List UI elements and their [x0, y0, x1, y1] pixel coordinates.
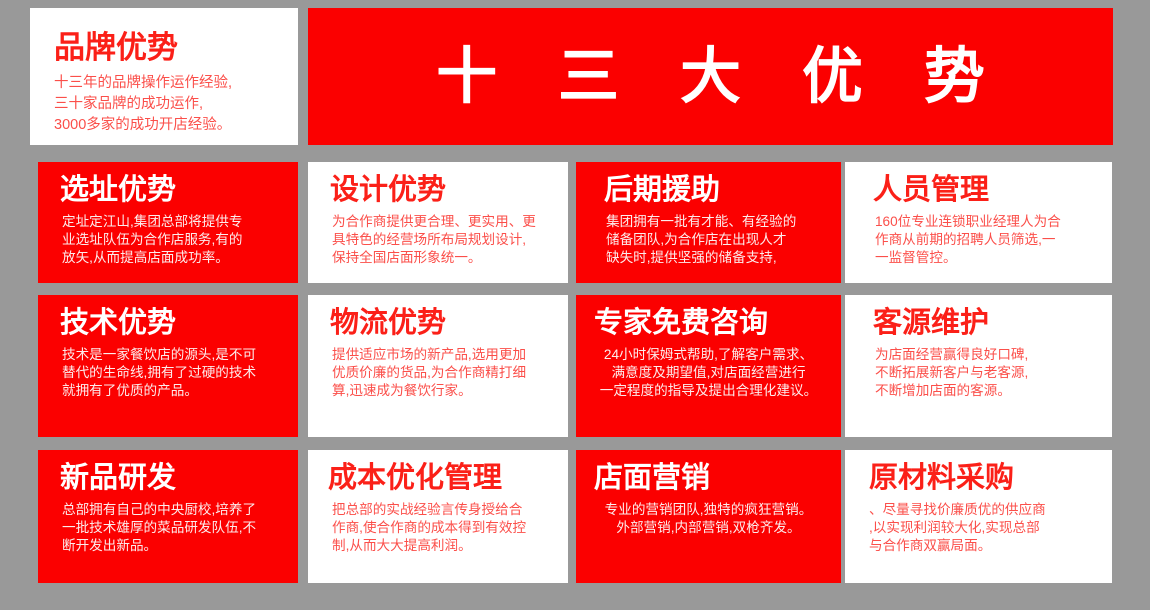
card-title: 专家免费咨询 [594, 309, 831, 338]
card-title: 客源维护 [873, 309, 1102, 338]
card-body-line: 不断增加店面的客源。 [875, 382, 1102, 400]
card-body-line: 作商从前期的招聘人员筛选,一 [875, 231, 1102, 249]
card-body-line: 总部拥有自己的中央厨校,培养了 [62, 501, 288, 519]
card-title: 原材料采购 [869, 464, 1102, 493]
card-body-line: 集团拥有一批有才能、有经验的 [606, 213, 831, 231]
card-body: 160位专业连锁职业经理人为合 作商从前期的招聘人员筛选,一 一监督管控。 [875, 213, 1102, 267]
card-body-line: 具特色的经营场所布局规划设计, [332, 231, 558, 249]
card-store-marketing: 店面营销 专业的营销团队,独特的疯狂营销。 外部营销,内部营销,双枪齐发。 [576, 450, 841, 583]
card-body-line: 定址定江山,集团总部将提供专 [62, 213, 288, 231]
card-body-line: 就拥有了优质的产品。 [62, 382, 288, 400]
card-title: 选址优势 [60, 176, 288, 205]
card-title: 设计优势 [330, 176, 558, 205]
infographic-root: 品牌优势 十三年的品牌操作运作经验, 三十家品牌的成功运作, 3000多家的成功… [0, 0, 1150, 610]
card-body-line: 一监督管控。 [875, 249, 1102, 267]
card-body-line: 优质价廉的货品,为合作商精打细 [332, 364, 558, 382]
card-body-line: 24小时保姆式帮助,了解客户需求、 [586, 346, 831, 364]
card-body-line: 替代的生命线,拥有了过硬的技术 [62, 364, 288, 382]
card-body: 集团拥有一批有才能、有经验的 储备团队,为合作店在出现人才 缺失时,提供坚强的储… [606, 213, 831, 267]
card-body-line: 3000多家的成功开店经验。 [54, 115, 298, 136]
card-body-line: 专业的营销团队,独特的疯狂营销。 [586, 501, 831, 519]
card-body-line: 放矢,从而提高店面成功率。 [62, 249, 288, 267]
banner-title: 十 三 大 优 势 [414, 46, 1007, 107]
card-body-line: 制,从而大大提高利润。 [332, 537, 558, 555]
card-body-line: 技术是一家餐饮店的源头,是不可 [62, 346, 288, 364]
card-body-line: 为店面经营赢得良好口碑, [875, 346, 1102, 364]
card-title: 品牌优势 [54, 32, 298, 63]
card-body-line: 、尽量寻找价廉质优的供应商 [869, 501, 1102, 519]
card-body: 24小时保姆式帮助,了解客户需求、 满意度及期望值,对店面经营进行 一定程度的指… [586, 346, 831, 400]
card-after-sales-support: 后期援助 集团拥有一批有才能、有经验的 储备团队,为合作店在出现人才 缺失时,提… [576, 162, 841, 283]
card-body-line: 为合作商提供更合理、更实用、更 [332, 213, 558, 231]
card-site-advantage: 选址优势 定址定江山,集团总部将提供专 业选址队伍为合作店服务,有的 放矢,从而… [38, 162, 298, 283]
card-body-line: 保持全国店面形象统一。 [332, 249, 558, 267]
card-body-line: 不断拓展新客户与老客源, [875, 364, 1102, 382]
card-body-line: 断开发出新品。 [62, 537, 288, 555]
card-body-line: 储备团队,为合作店在出现人才 [606, 231, 831, 249]
card-body-line: 提供适应市场的新产品,选用更加 [332, 346, 558, 364]
card-title: 新品研发 [60, 464, 288, 493]
card-body-line: 算,迅速成为餐饮行家。 [332, 382, 558, 400]
card-body: 、尽量寻找价廉质优的供应商 ,以实现利润较大化,实现总部 与合作商双赢局面。 [869, 501, 1102, 555]
card-staff-management: 人员管理 160位专业连锁职业经理人为合 作商从前期的招聘人员筛选,一 一监督管… [845, 162, 1112, 283]
card-body-line: 160位专业连锁职业经理人为合 [875, 213, 1102, 231]
card-body: 技术是一家餐饮店的源头,是不可 替代的生命线,拥有了过硬的技术 就拥有了优质的产… [62, 346, 288, 400]
card-body-line: 外部营销,内部营销,双枪齐发。 [586, 519, 831, 537]
card-body: 为店面经营赢得良好口碑, 不断拓展新客户与老客源, 不断增加店面的客源。 [875, 346, 1102, 400]
card-title: 店面营销 [594, 464, 831, 493]
main-banner: 十 三 大 优 势 [308, 8, 1113, 145]
card-body-line: 十三年的品牌操作运作经验, [54, 73, 298, 94]
card-body: 把总部的实战经验言传身授给合 作商,使合作商的成本得到有效控 制,从而大大提高利… [332, 501, 558, 555]
card-body: 专业的营销团队,独特的疯狂营销。 外部营销,内部营销,双枪齐发。 [586, 501, 831, 537]
card-body-line: 一定程度的指导及提出合理化建议。 [586, 382, 831, 400]
card-body-line: 三十家品牌的成功运作, [54, 94, 298, 115]
card-title: 技术优势 [60, 309, 288, 338]
card-title: 物流优势 [330, 309, 558, 338]
card-title: 人员管理 [873, 176, 1102, 205]
card-body-line: ,以实现利润较大化,实现总部 [869, 519, 1102, 537]
card-body-line: 与合作商双赢局面。 [869, 537, 1102, 555]
card-body-line: 一批技术雄厚的菜品研发队伍,不 [62, 519, 288, 537]
card-body: 十三年的品牌操作运作经验, 三十家品牌的成功运作, 3000多家的成功开店经验。 [54, 73, 298, 136]
card-body: 定址定江山,集团总部将提供专 业选址队伍为合作店服务,有的 放矢,从而提高店面成… [62, 213, 288, 267]
card-body: 为合作商提供更合理、更实用、更 具特色的经营场所布局规划设计, 保持全国店面形象… [332, 213, 558, 267]
card-design-advantage: 设计优势 为合作商提供更合理、更实用、更 具特色的经营场所布局规划设计, 保持全… [308, 162, 568, 283]
card-body: 提供适应市场的新产品,选用更加 优质价廉的货品,为合作商精打细 算,迅速成为餐饮… [332, 346, 558, 400]
card-title: 成本优化管理 [328, 464, 558, 493]
card-title: 后期援助 [604, 176, 831, 205]
card-customer-retention: 客源维护 为店面经营赢得良好口碑, 不断拓展新客户与老客源, 不断增加店面的客源… [845, 295, 1112, 437]
card-brand-advantage: 品牌优势 十三年的品牌操作运作经验, 三十家品牌的成功运作, 3000多家的成功… [30, 8, 298, 145]
card-cost-optimization-management: 成本优化管理 把总部的实战经验言传身授给合 作商,使合作商的成本得到有效控 制,… [308, 450, 568, 583]
card-body-line: 把总部的实战经验言传身授给合 [332, 501, 558, 519]
card-body-line: 缺失时,提供坚强的储备支持, [606, 249, 831, 267]
card-body: 总部拥有自己的中央厨校,培养了 一批技术雄厚的菜品研发队伍,不 断开发出新品。 [62, 501, 288, 555]
card-expert-free-consultation: 专家免费咨询 24小时保姆式帮助,了解客户需求、 满意度及期望值,对店面经营进行… [576, 295, 841, 437]
card-new-product-development: 新品研发 总部拥有自己的中央厨校,培养了 一批技术雄厚的菜品研发队伍,不 断开发… [38, 450, 298, 583]
card-logistics-advantage: 物流优势 提供适应市场的新产品,选用更加 优质价廉的货品,为合作商精打细 算,迅… [308, 295, 568, 437]
card-technology-advantage: 技术优势 技术是一家餐饮店的源头,是不可 替代的生命线,拥有了过硬的技术 就拥有… [38, 295, 298, 437]
card-raw-material-procurement: 原材料采购 、尽量寻找价廉质优的供应商 ,以实现利润较大化,实现总部 与合作商双… [845, 450, 1112, 583]
card-body-line: 满意度及期望值,对店面经营进行 [586, 364, 831, 382]
card-body-line: 作商,使合作商的成本得到有效控 [332, 519, 558, 537]
card-body-line: 业选址队伍为合作店服务,有的 [62, 231, 288, 249]
